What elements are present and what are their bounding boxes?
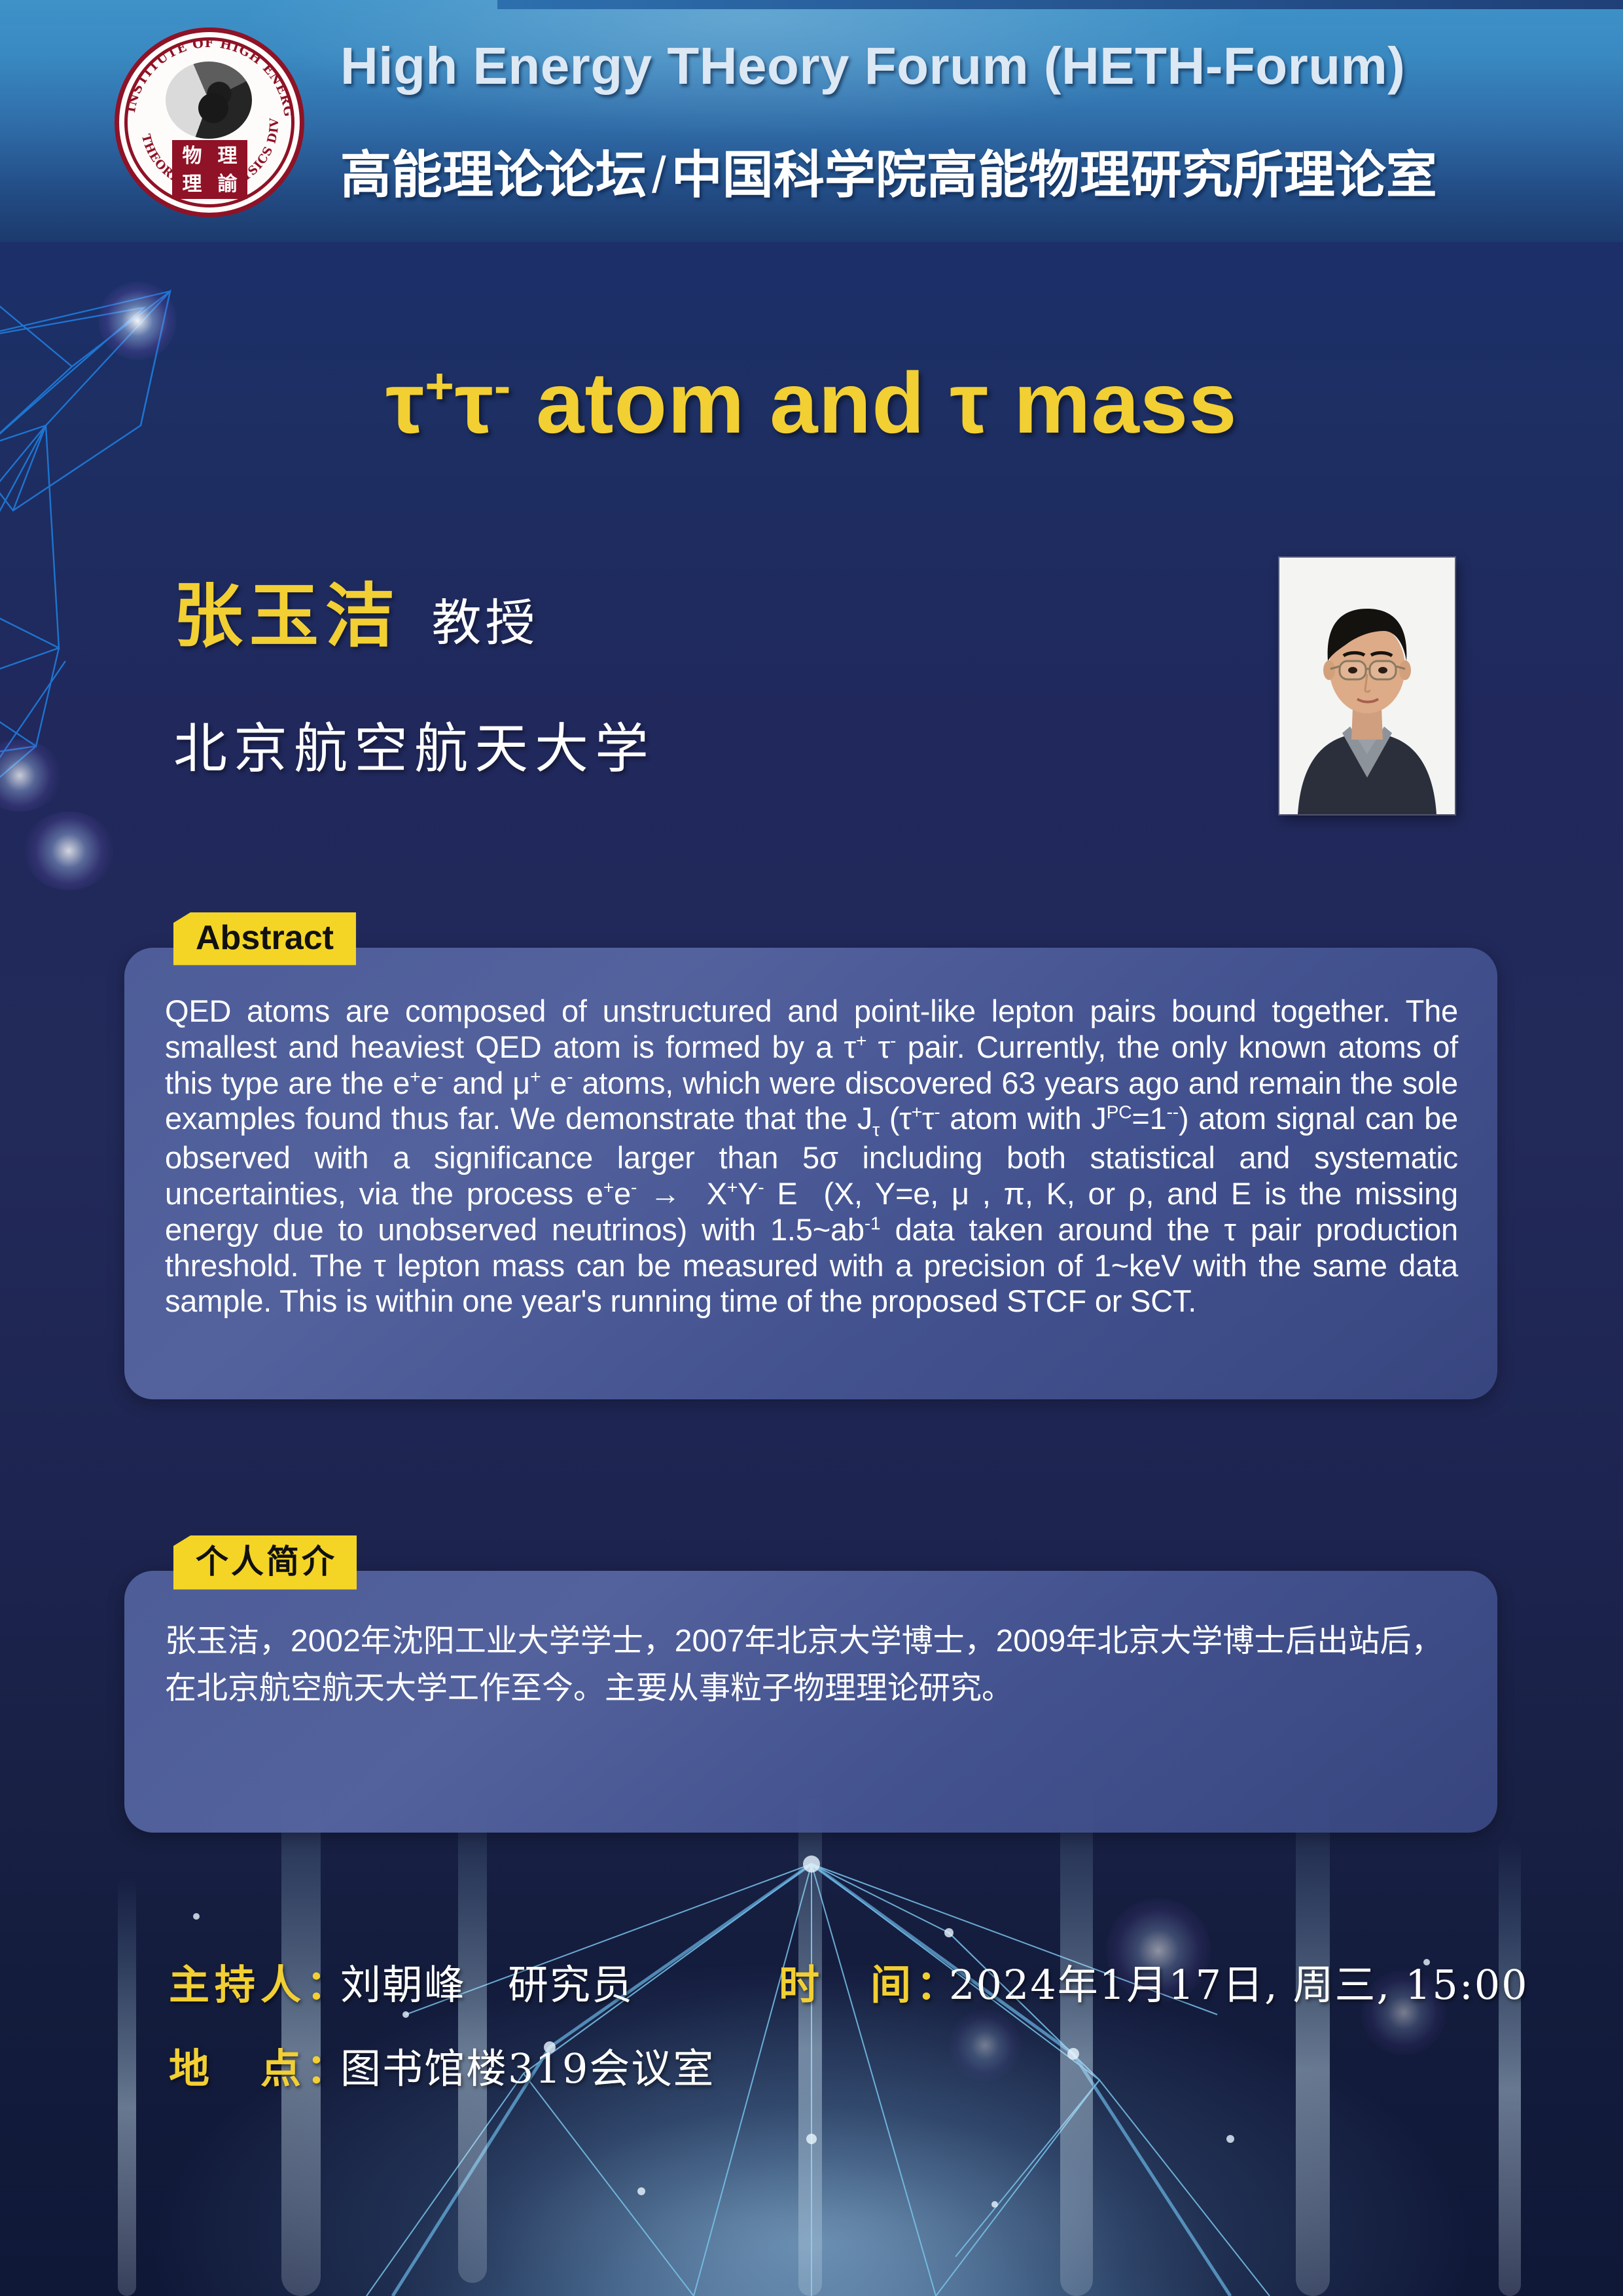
bio-body: 张玉洁，2002年沈阳工业大学学士，2007年北京大学博士，2009年北京大学博…	[165, 1618, 1458, 1712]
host-value: 刘朝峰 研究员	[340, 1952, 633, 2011]
speaker-photo	[1279, 558, 1455, 814]
speaker-affiliation: 北京航空航天大学	[173, 705, 1090, 783]
poster-canvas: INSTITUTE OF HIGH ENERGY PHYSICS · CAS ·…	[0, 0, 1623, 2296]
forum-title-en: High Energy THeory Forum (HETH-Forum)	[340, 36, 1405, 96]
network-decoration-left	[0, 229, 340, 884]
talk-title-sup-plus: +	[425, 359, 455, 414]
bio-panel: 个人简介 张玉洁，2002年沈阳工业大学学士，2007年北京大学博士，2009年…	[124, 1571, 1497, 1833]
talk-title-tau1: τ	[385, 355, 425, 451]
time-value: 2024年1月17日, 周三, 15:00	[949, 1952, 1529, 2011]
abstract-body: QED atoms are composed of unstructured a…	[165, 994, 1458, 1319]
bio-tag: 个人简介	[173, 1535, 357, 1590]
place-value: 图书馆楼319会议室	[340, 2036, 715, 2094]
ihep-logo-icon: INSTITUTE OF HIGH ENERGY PHYSICS · CAS ·…	[115, 27, 304, 217]
logo-seal-char: 理	[175, 171, 209, 198]
place-label: 地 点：	[169, 2036, 352, 2094]
title-separator: /	[647, 146, 671, 204]
logo-seal-characters: 物 理 理 諭	[172, 140, 247, 199]
logo-seal-char: 諭	[211, 171, 244, 198]
host-label: 主持人：	[169, 1952, 352, 2011]
glow-dot	[949, 2009, 1021, 2081]
speaker-name: 张玉洁	[173, 560, 401, 660]
poster-header: INSTITUTE OF HIGH ENERGY PHYSICS · CAS ·…	[0, 0, 1623, 242]
abstract-tag: Abstract	[173, 912, 356, 965]
abstract-panel: Abstract QED atoms are composed of unstr…	[124, 948, 1497, 1399]
time-label: 时 间：	[779, 1952, 962, 2011]
speaker-portrait-illustration	[1279, 558, 1455, 814]
institute-name-cn: 中国科学院高能物理研究所理论室	[671, 146, 1437, 204]
speaker-rank: 教授	[431, 583, 539, 655]
talk-title-tau2: τ	[455, 355, 494, 451]
glow-dot	[98, 281, 177, 360]
logo-seal-char: 理	[211, 143, 244, 170]
forum-name-cn: 高能理论论坛	[340, 146, 647, 204]
header-top-notch	[497, 0, 1623, 9]
logo-seal-char: 物	[175, 143, 209, 170]
talk-title-sup-minus: -	[494, 359, 512, 414]
yin-yang-icon	[166, 62, 252, 139]
talk-title: τ+τ- atom and τ mass	[0, 353, 1623, 452]
forum-title-cn: 高能理论论坛/中国科学院高能物理研究所理论室	[340, 134, 1437, 207]
speaker-block: 张玉洁 教授 北京航空航天大学	[173, 560, 1090, 783]
talk-title-rest: atom and τ mass	[511, 355, 1237, 451]
glow-dot	[23, 812, 115, 890]
glow-dot	[0, 740, 62, 812]
